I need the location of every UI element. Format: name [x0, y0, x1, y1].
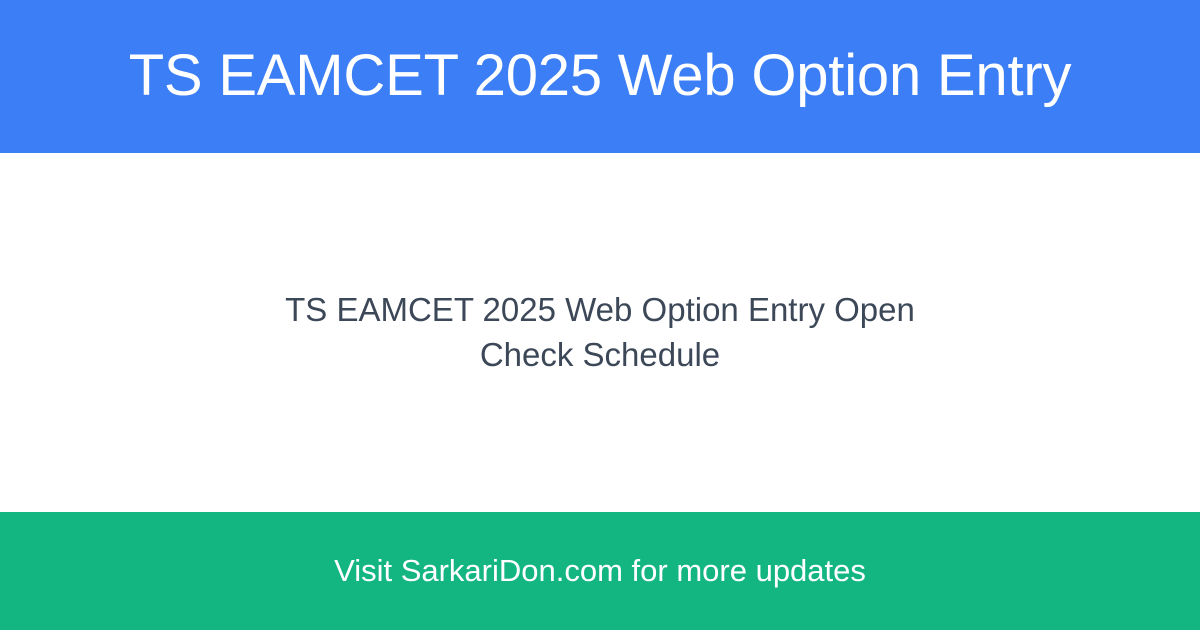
footer-banner: Visit SarkariDon.com for more updates	[0, 512, 1200, 630]
article-headline: TS EAMCET 2025 Web Option Entry Open Che…	[280, 288, 920, 376]
page-title: TS EAMCET 2025 Web Option Entry	[129, 44, 1072, 109]
footer-cta-text: Visit SarkariDon.com for more updates	[334, 552, 866, 589]
card-body: TS EAMCET 2025 Web Option Entry Open Che…	[0, 153, 1200, 512]
header-banner: TS EAMCET 2025 Web Option Entry	[0, 0, 1200, 153]
social-share-card: TS EAMCET 2025 Web Option Entry TS EAMCE…	[0, 0, 1200, 630]
